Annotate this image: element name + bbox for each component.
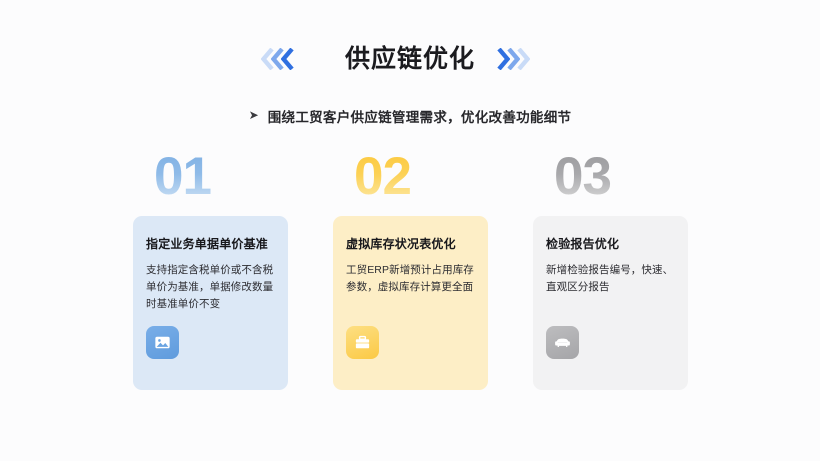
chevron-right-icon — [517, 48, 530, 70]
card-number: 01 — [154, 150, 211, 203]
slide-subtitle: ➤ 围绕工贸客户供应链管理需求，优化改善功能细节 — [0, 106, 820, 126]
feature-card[interactable]: 02 虚拟库存状况表优化 工贸ERP新增预计占用库存参数，虚拟库存计算更全面 — [333, 150, 488, 390]
chevron-left-icon — [281, 48, 294, 70]
feature-card-list: 01 指定业务单据单价基准 支持指定含税单价或不含税单价为基准，单据修改数量时基… — [133, 150, 687, 390]
card-panel: 指定业务单据单价基准 支持指定含税单价或不含税单价为基准，单据修改数量时基准单价… — [133, 216, 288, 390]
card-body-text: 支持指定含税单价或不含税单价为基准，单据修改数量时基准单价不变 — [146, 262, 278, 313]
briefcase-icon — [354, 334, 371, 351]
card-icon-tile[interactable] — [346, 326, 379, 359]
card-body-text: 工贸ERP新增预计占用库存参数，虚拟库存计算更全面 — [346, 262, 478, 296]
chevrons-left-icon — [261, 46, 323, 72]
chevrons-right-icon — [497, 46, 559, 72]
slide-canvas: 供应链优化 ➤ 围绕工贸客户供应链管理需求，优化改善功能细节 01 指定业务单据… — [0, 0, 820, 461]
sofa-icon — [554, 334, 571, 351]
card-title: 指定业务单据单价基准 — [146, 237, 278, 251]
card-number: 02 — [354, 150, 411, 203]
card-body-text: 新增检验报告编号，快速、直观区分报告 — [546, 262, 678, 296]
image-icon — [154, 334, 171, 351]
card-number: 03 — [554, 150, 611, 203]
card-panel: 检验报告优化 新增检验报告编号，快速、直观区分报告 — [533, 216, 688, 390]
card-title: 检验报告优化 — [546, 237, 678, 251]
card-panel: 虚拟库存状况表优化 工贸ERP新增预计占用库存参数，虚拟库存计算更全面 — [333, 216, 488, 390]
feature-card[interactable]: 03 检验报告优化 新增检验报告编号，快速、直观区分报告 — [533, 150, 688, 390]
slide-header: 供应链优化 — [0, 38, 820, 80]
card-icon-tile[interactable] — [546, 326, 579, 359]
card-title: 虚拟库存状况表优化 — [346, 237, 478, 251]
card-icon-tile[interactable] — [146, 326, 179, 359]
bullet-arrow-icon: ➤ — [249, 109, 259, 121]
subtitle-text: 围绕工贸客户供应链管理需求，优化改善功能细节 — [268, 106, 572, 126]
page-title: 供应链优化 — [345, 47, 475, 72]
feature-card[interactable]: 01 指定业务单据单价基准 支持指定含税单价或不含税单价为基准，单据修改数量时基… — [133, 150, 288, 390]
